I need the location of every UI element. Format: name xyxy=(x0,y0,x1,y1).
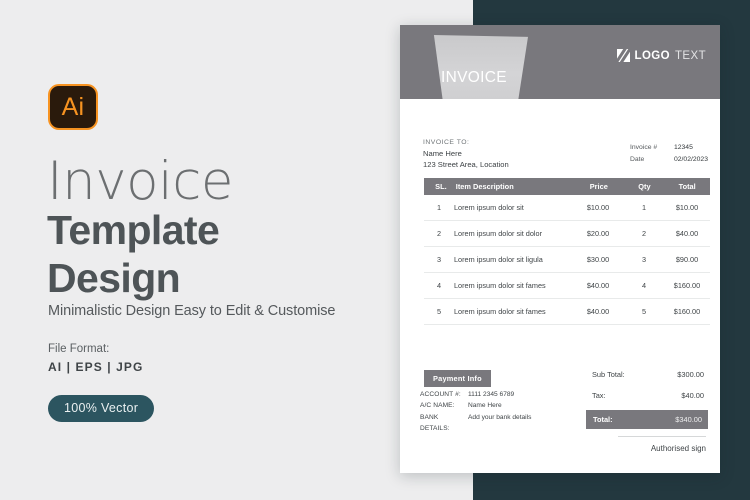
cell-price: $20.00 xyxy=(572,229,624,238)
invoice-header-bar: INVOICE LOGO TEXT xyxy=(400,25,720,99)
payment-key: BANK DETAILS: xyxy=(420,412,468,435)
promo-title-line2: Design xyxy=(47,254,219,302)
col-header-description: Item Description xyxy=(456,182,573,191)
subtotal-row: Sub Total: $300.00 xyxy=(586,368,708,381)
grand-total-row: Total: $340.00 xyxy=(586,410,708,429)
invoice-number-value: 12345 xyxy=(674,142,693,154)
payment-row: A/C NAME: Name Here xyxy=(420,400,531,411)
logo-text-light: TEXT xyxy=(675,50,706,62)
cell-total: $160.00 xyxy=(664,307,710,316)
logo-slash-icon xyxy=(617,49,630,62)
table-row: 5 Lorem ipsum dolor sit fames $40.00 5 $… xyxy=(424,299,710,325)
vector-badge: 100% Vector xyxy=(48,395,154,422)
table-row: 3 Lorem ipsum dolor sit ligula $30.00 3 … xyxy=(424,247,710,273)
cell-qty: 1 xyxy=(624,203,664,212)
cell-total: $90.00 xyxy=(664,255,710,264)
illustrator-file-icon: Ai xyxy=(48,84,98,130)
payment-value: 1111 2345 6789 xyxy=(468,389,514,400)
tax-value: $40.00 xyxy=(681,391,704,400)
payment-info-badge: Payment Info xyxy=(424,370,491,387)
promo-title-thin: Invoice xyxy=(47,155,233,208)
grand-total-value: $340.00 xyxy=(675,415,702,424)
invoice-meta: Invoice # 12345 Date 02/02/2023 xyxy=(630,142,708,166)
tax-label: Tax: xyxy=(592,391,606,400)
invoice-to-name: Name Here xyxy=(423,149,509,160)
invoice-card: INVOICE LOGO TEXT INVOICE TO: Name Here … xyxy=(400,25,720,473)
cell-price: $40.00 xyxy=(572,281,624,290)
cell-qty: 2 xyxy=(624,229,664,238)
cell-sl: 5 xyxy=(424,307,454,316)
cell-description: Lorem ipsum dolor sit dolor xyxy=(454,229,572,238)
tax-row: Tax: $40.00 xyxy=(586,389,708,402)
cell-description: Lorem ipsum dolor sit xyxy=(454,203,572,212)
promo-title-line1: Template xyxy=(47,206,219,254)
payment-key: ACCOUNT #: xyxy=(420,389,468,400)
invoice-number-row: Invoice # 12345 xyxy=(630,142,708,154)
cell-description: Lorem ipsum dolor sit fames xyxy=(454,307,572,316)
payment-value: Add your bank details xyxy=(468,412,531,435)
subtotal-label: Sub Total: xyxy=(592,370,625,379)
cell-qty: 5 xyxy=(624,307,664,316)
table-header-row: SL. Item Description Price Qty Total xyxy=(424,178,710,195)
cell-sl: 4 xyxy=(424,281,454,290)
cell-sl: 3 xyxy=(424,255,454,264)
table-row: 2 Lorem ipsum dolor sit dolor $20.00 2 $… xyxy=(424,221,710,247)
invoice-to-label: INVOICE TO: xyxy=(423,139,469,146)
totals-block: Sub Total: $300.00 Tax: $40.00 Total: $3… xyxy=(586,368,708,429)
subtotal-value: $300.00 xyxy=(677,370,704,379)
col-header-total: Total xyxy=(664,182,710,191)
col-header-sl: SL. xyxy=(424,182,456,191)
cell-price: $10.00 xyxy=(572,203,624,212)
company-logo: LOGO TEXT xyxy=(617,49,706,62)
invoice-ribbon: INVOICE xyxy=(432,35,528,99)
cell-total: $40.00 xyxy=(664,229,710,238)
invoice-date-label: Date xyxy=(630,154,666,166)
cell-total: $160.00 xyxy=(664,281,710,290)
grand-total-label: Total: xyxy=(593,415,613,424)
logo-text-strong: LOGO xyxy=(635,50,670,62)
cell-sl: 1 xyxy=(424,203,454,212)
cell-sl: 2 xyxy=(424,229,454,238)
payment-row: BANK DETAILS: Add your bank details xyxy=(420,412,531,435)
file-format-label: File Format: xyxy=(48,343,109,355)
payment-key: A/C NAME: xyxy=(420,400,468,411)
signature-line xyxy=(618,436,706,437)
cell-description: Lorem ipsum dolor sit ligula xyxy=(454,255,572,264)
line-items-table: SL. Item Description Price Qty Total 1 L… xyxy=(424,178,710,325)
payment-row: ACCOUNT #: 1111 2345 6789 xyxy=(420,389,531,400)
promo-title-bold: Template Design xyxy=(47,206,219,303)
illustrator-icon-label: Ai xyxy=(62,95,85,120)
payment-details: ACCOUNT #: 1111 2345 6789 A/C NAME: Name… xyxy=(420,389,531,434)
invoice-date-row: Date 02/02/2023 xyxy=(630,154,708,166)
table-row: 1 Lorem ipsum dolor sit $10.00 1 $10.00 xyxy=(424,195,710,221)
table-row: 4 Lorem ipsum dolor sit fames $40.00 4 $… xyxy=(424,273,710,299)
file-format-value: AI | EPS | JPG xyxy=(48,360,143,374)
cell-qty: 3 xyxy=(624,255,664,264)
col-header-qty: Qty xyxy=(625,182,665,191)
cell-qty: 4 xyxy=(624,281,664,290)
col-header-price: Price xyxy=(573,182,625,191)
signature-label: Authorised sign xyxy=(651,444,706,453)
invoice-to-block: Name Here 123 Street Area, Location xyxy=(423,149,509,171)
invoice-ribbon-label: INVOICE xyxy=(441,69,507,87)
payment-value: Name Here xyxy=(468,400,502,411)
invoice-number-label: Invoice # xyxy=(630,142,666,154)
poster-stage: Ai Invoice Template Design Minimalistic … xyxy=(0,0,750,500)
cell-price: $30.00 xyxy=(572,255,624,264)
cell-total: $10.00 xyxy=(664,203,710,212)
cell-price: $40.00 xyxy=(572,307,624,316)
promo-subtitle: Minimalistic Design Easy to Edit & Custo… xyxy=(48,303,335,319)
invoice-to-address: 123 Street Area, Location xyxy=(423,160,509,171)
cell-description: Lorem ipsum dolor sit fames xyxy=(454,281,572,290)
invoice-date-value: 02/02/2023 xyxy=(674,154,708,166)
